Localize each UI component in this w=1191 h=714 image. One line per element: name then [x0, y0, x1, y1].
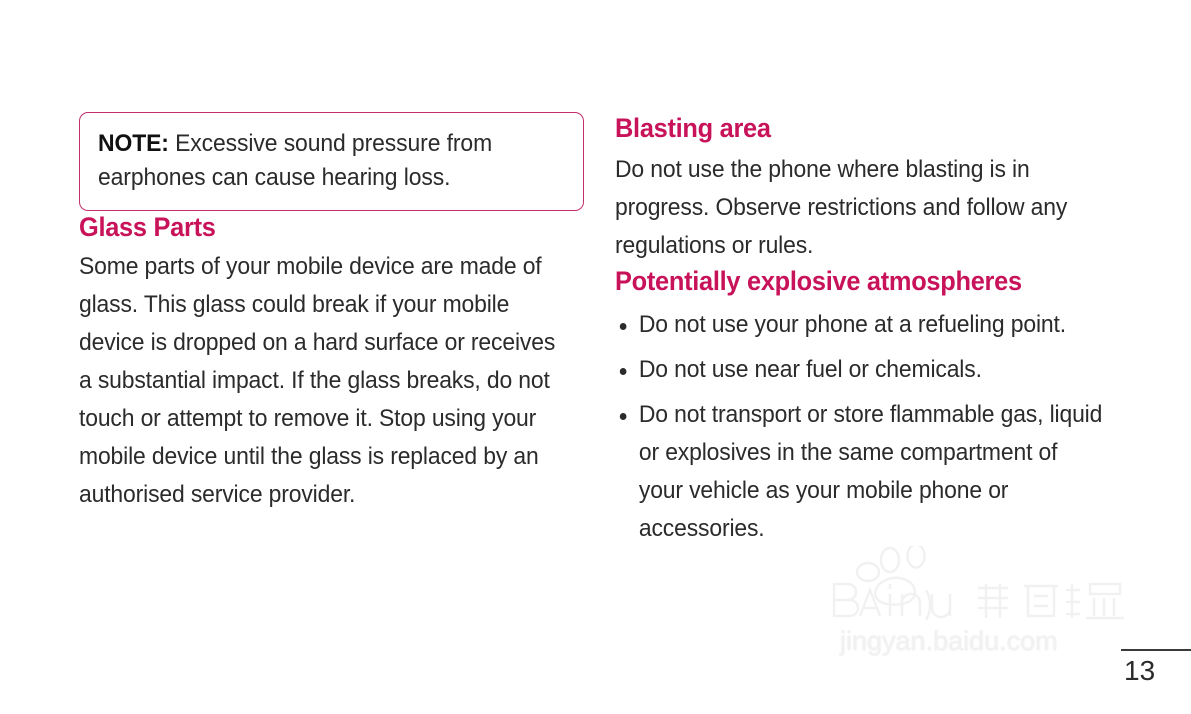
watermark-url: jingyan.baidu.com [840, 626, 1058, 656]
list-item: Do not transport or store flammable gas,… [615, 396, 1104, 548]
list-item: Do not use your phone at a refueling poi… [615, 306, 1104, 344]
left-column: NOTE: Excessive sound pressure from earp… [79, 112, 589, 514]
page-number-block: 13 [1121, 649, 1191, 687]
page-number: 13 [1121, 655, 1191, 687]
heading-glass-parts: Glass Parts [79, 211, 558, 244]
baidu-watermark: jingyan.baidu.com [828, 540, 1188, 660]
page-number-rule [1121, 649, 1191, 651]
document-page: NOTE: Excessive sound pressure from earp… [0, 0, 1191, 714]
list-item: Do not use near fuel or chemicals. [615, 351, 1104, 389]
heading-potentially-explosive-atmospheres: Potentially explosive atmospheres [615, 265, 1096, 298]
baidu-logo-icon [828, 546, 1128, 624]
bullet-list-explosive-atmospheres: Do not use your phone at a refueling poi… [615, 306, 1127, 548]
heading-blasting-area: Blasting area [615, 112, 1096, 145]
note-text: NOTE: Excessive sound pressure from earp… [98, 127, 546, 195]
note-callout-box: NOTE: Excessive sound pressure from earp… [79, 112, 584, 211]
paragraph-blasting-area: Do not use the phone where blasting is i… [615, 151, 1104, 265]
right-column: Blasting area Do not use the phone where… [615, 112, 1127, 555]
paragraph-glass-parts: Some parts of your mobile device are mad… [79, 248, 566, 514]
note-label: NOTE: [98, 130, 169, 157]
